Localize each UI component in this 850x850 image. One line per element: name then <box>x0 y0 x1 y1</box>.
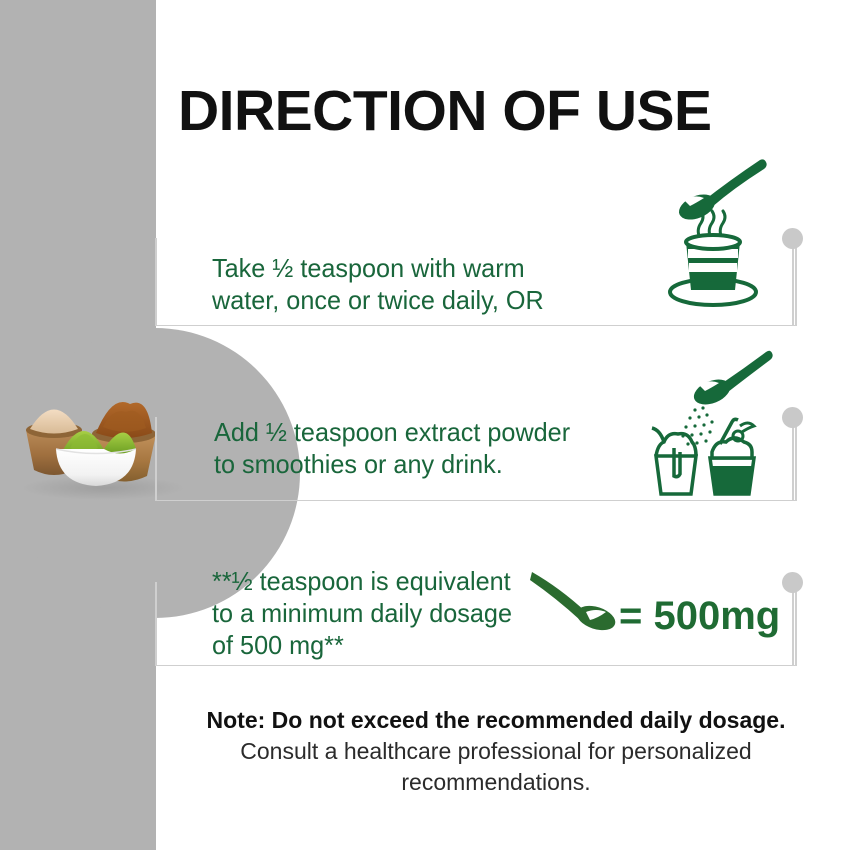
block-2-right-edge <box>795 417 797 501</box>
block-1-right-edge <box>795 238 797 326</box>
divider-1 <box>156 325 796 326</box>
step-2-text: Add ½ teaspoon extract powder to smoothi… <box>214 416 583 480</box>
infographic-canvas: DIRECTION OF USE Take ½ teaspoon with wa… <box>0 0 850 850</box>
dosage-equation: = 500mg <box>619 594 780 639</box>
powder-bowls-image <box>8 372 198 502</box>
footer-note-rest: Consult a healthcare professional for pe… <box>240 738 751 795</box>
step-3-text: **½ teaspoon is equivalent to a minimum … <box>212 565 532 661</box>
block-2-left-edge <box>155 417 157 501</box>
spoon-over-steaming-glass-icon <box>668 150 778 310</box>
block-3-left-edge <box>155 582 157 666</box>
step-1-text: Take ½ teaspoon with warm water, once or… <box>212 252 561 316</box>
block-3-right-edge <box>795 582 797 666</box>
block-3-pin-dot <box>782 572 803 593</box>
block-3-pin-line <box>792 582 794 666</box>
page-title: DIRECTION OF USE <box>178 78 712 144</box>
footer-note-bold: Note: Do not exceed the recommended dail… <box>207 707 786 733</box>
footer-note: Note: Do not exceed the recommended dail… <box>186 705 806 798</box>
block-1-left-edge <box>155 238 157 326</box>
divider-2 <box>156 500 796 501</box>
block-1-pin-line <box>792 238 794 326</box>
block-2-pin-dot <box>782 407 803 428</box>
spoon-sprinkling-smoothies-icon <box>650 348 780 498</box>
divider-3 <box>156 665 796 666</box>
block-2-pin-line <box>792 417 794 501</box>
block-1-pin-dot <box>782 228 803 249</box>
